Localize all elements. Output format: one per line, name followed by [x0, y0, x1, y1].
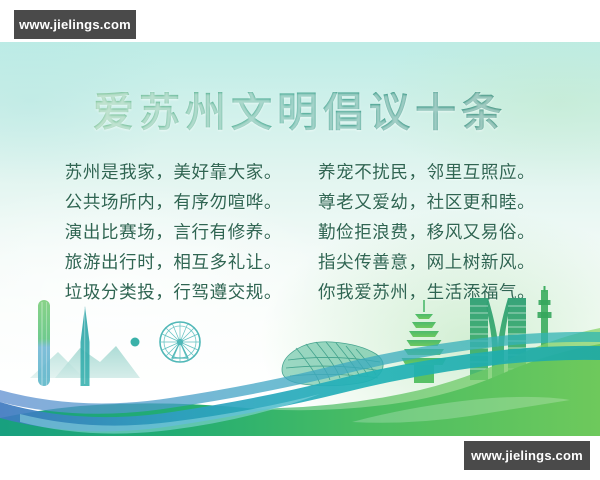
watermark-top: www.jielings.com — [14, 10, 136, 39]
verse-line: 指尖传善意，网上树新风。 — [318, 250, 535, 276]
verse-line: 演出比赛场，言行有修养。 — [65, 220, 282, 246]
poster-screenshot: www.jielings.com 爱苏州文明倡议十条 苏州是我家，美好靠大家。 … — [0, 0, 600, 480]
verse-line: 勤俭拒浪费，移风又易俗。 — [318, 220, 535, 246]
ferris-wheel-icon — [160, 322, 200, 362]
verse-line: 公共场所内，有序勿喧哗。 — [65, 190, 282, 216]
poster-canvas: 爱苏州文明倡议十条 苏州是我家，美好靠大家。 公共场所内，有序勿喧哗。 演出比赛… — [0, 42, 600, 436]
verse-line: 养宠不扰民，邻里互照应。 — [318, 160, 535, 186]
skyline-illustration — [0, 286, 600, 436]
page-title: 爱苏州文明倡议十条 — [0, 92, 600, 133]
balloon-dot-icon — [131, 338, 140, 347]
verse-column-left: 苏州是我家，美好靠大家。 公共场所内，有序勿喧哗。 演出比赛场，言行有修养。 旅… — [65, 160, 282, 306]
watermark-bottom: www.jielings.com — [464, 441, 590, 470]
green-tower-icon — [38, 300, 50, 386]
verse-columns: 苏州是我家，美好靠大家。 公共场所内，有序勿喧哗。 演出比赛场，言行有修养。 旅… — [0, 160, 600, 306]
spire-tower-icon — [81, 306, 90, 386]
verse-line: 苏州是我家，美好靠大家。 — [65, 160, 282, 186]
verse-line: 旅游出行时，相互多礼让。 — [65, 250, 282, 276]
verse-column-right: 养宠不扰民，邻里互照应。 尊老又爱幼，社区更和睦。 勤俭拒浪费，移风又易俗。 指… — [318, 160, 535, 306]
verse-line: 尊老又爱幼，社区更和睦。 — [318, 190, 535, 216]
